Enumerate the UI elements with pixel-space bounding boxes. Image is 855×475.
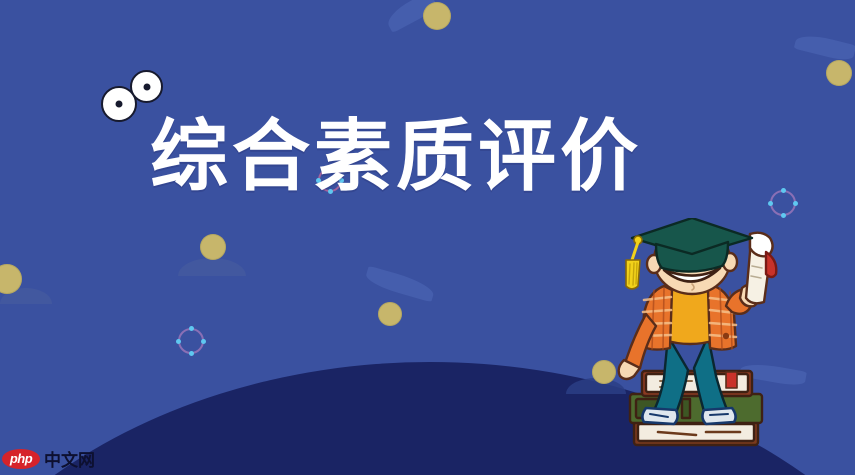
page-title: 综合素质评价 bbox=[150, 108, 642, 204]
graduate-boy-svg bbox=[600, 218, 810, 468]
gold-dot bbox=[200, 234, 226, 260]
watermark-site-name: 中文网 bbox=[44, 446, 95, 471]
gold-dot bbox=[826, 60, 852, 86]
dotted-ring-icon bbox=[178, 328, 204, 354]
gold-dot bbox=[423, 2, 451, 30]
gold-dot bbox=[378, 302, 402, 326]
dotted-ring-icon bbox=[770, 190, 796, 216]
slide-canvas: 综合素质评价 bbox=[0, 0, 855, 475]
watermark: php 中文网 bbox=[2, 446, 95, 471]
graduate-boy-illustration bbox=[600, 218, 810, 468]
php-logo-badge: php bbox=[2, 449, 40, 469]
white-eye-dot bbox=[130, 70, 163, 103]
